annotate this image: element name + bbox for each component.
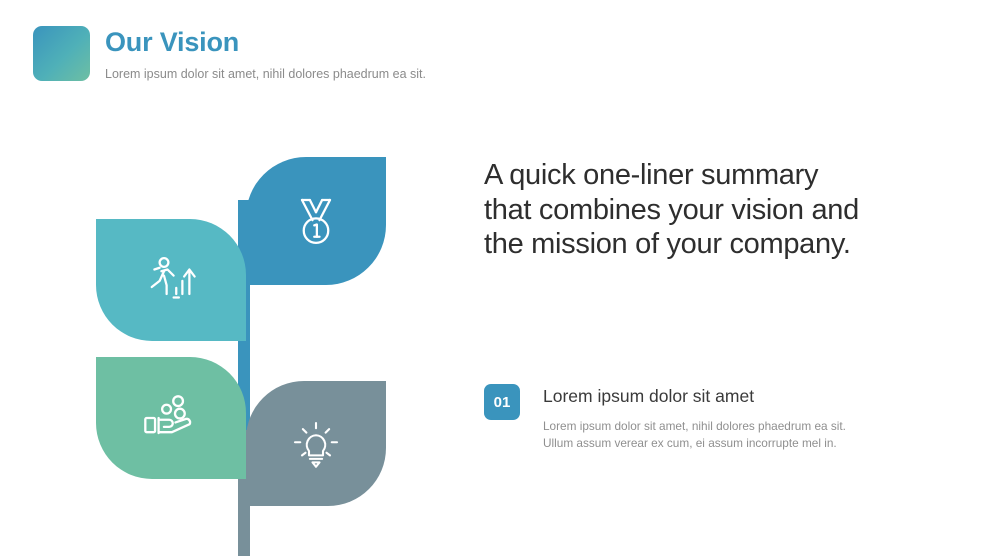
item-title: Lorem ipsum dolor sit amet <box>543 386 846 407</box>
item-number-badge: 01 <box>484 384 520 420</box>
item-description-line-1: Lorem ipsum dolor sit amet, nihil dolore… <box>543 418 846 435</box>
leaf-diagram <box>0 0 470 556</box>
headline: A quick one-liner summary that combines … <box>484 158 914 262</box>
leaf-hand-coins[interactable] <box>96 357 246 479</box>
numbered-item-01[interactable]: 01 Lorem ipsum dolor sit amet Lorem ipsu… <box>484 384 904 452</box>
headline-line-2: that combines your vision and <box>484 193 914 228</box>
leaf-medal[interactable] <box>246 157 386 285</box>
item-text-group: Lorem ipsum dolor sit amet Lorem ipsum d… <box>543 384 846 452</box>
headline-line-1: A quick one-liner summary <box>484 158 914 193</box>
leaf-growth[interactable] <box>96 219 246 341</box>
hand-with-coins-icon <box>140 392 202 444</box>
medal-icon <box>288 193 344 249</box>
person-growth-chart-icon <box>140 252 202 308</box>
lightbulb-icon <box>288 416 344 472</box>
headline-line-3: the mission of your company. <box>484 227 914 262</box>
item-description: Lorem ipsum dolor sit amet, nihil dolore… <box>543 418 846 452</box>
leaf-lightbulb[interactable] <box>246 381 386 506</box>
item-description-line-2: Ullum assum verear ex cum, ei assum inco… <box>543 435 846 452</box>
